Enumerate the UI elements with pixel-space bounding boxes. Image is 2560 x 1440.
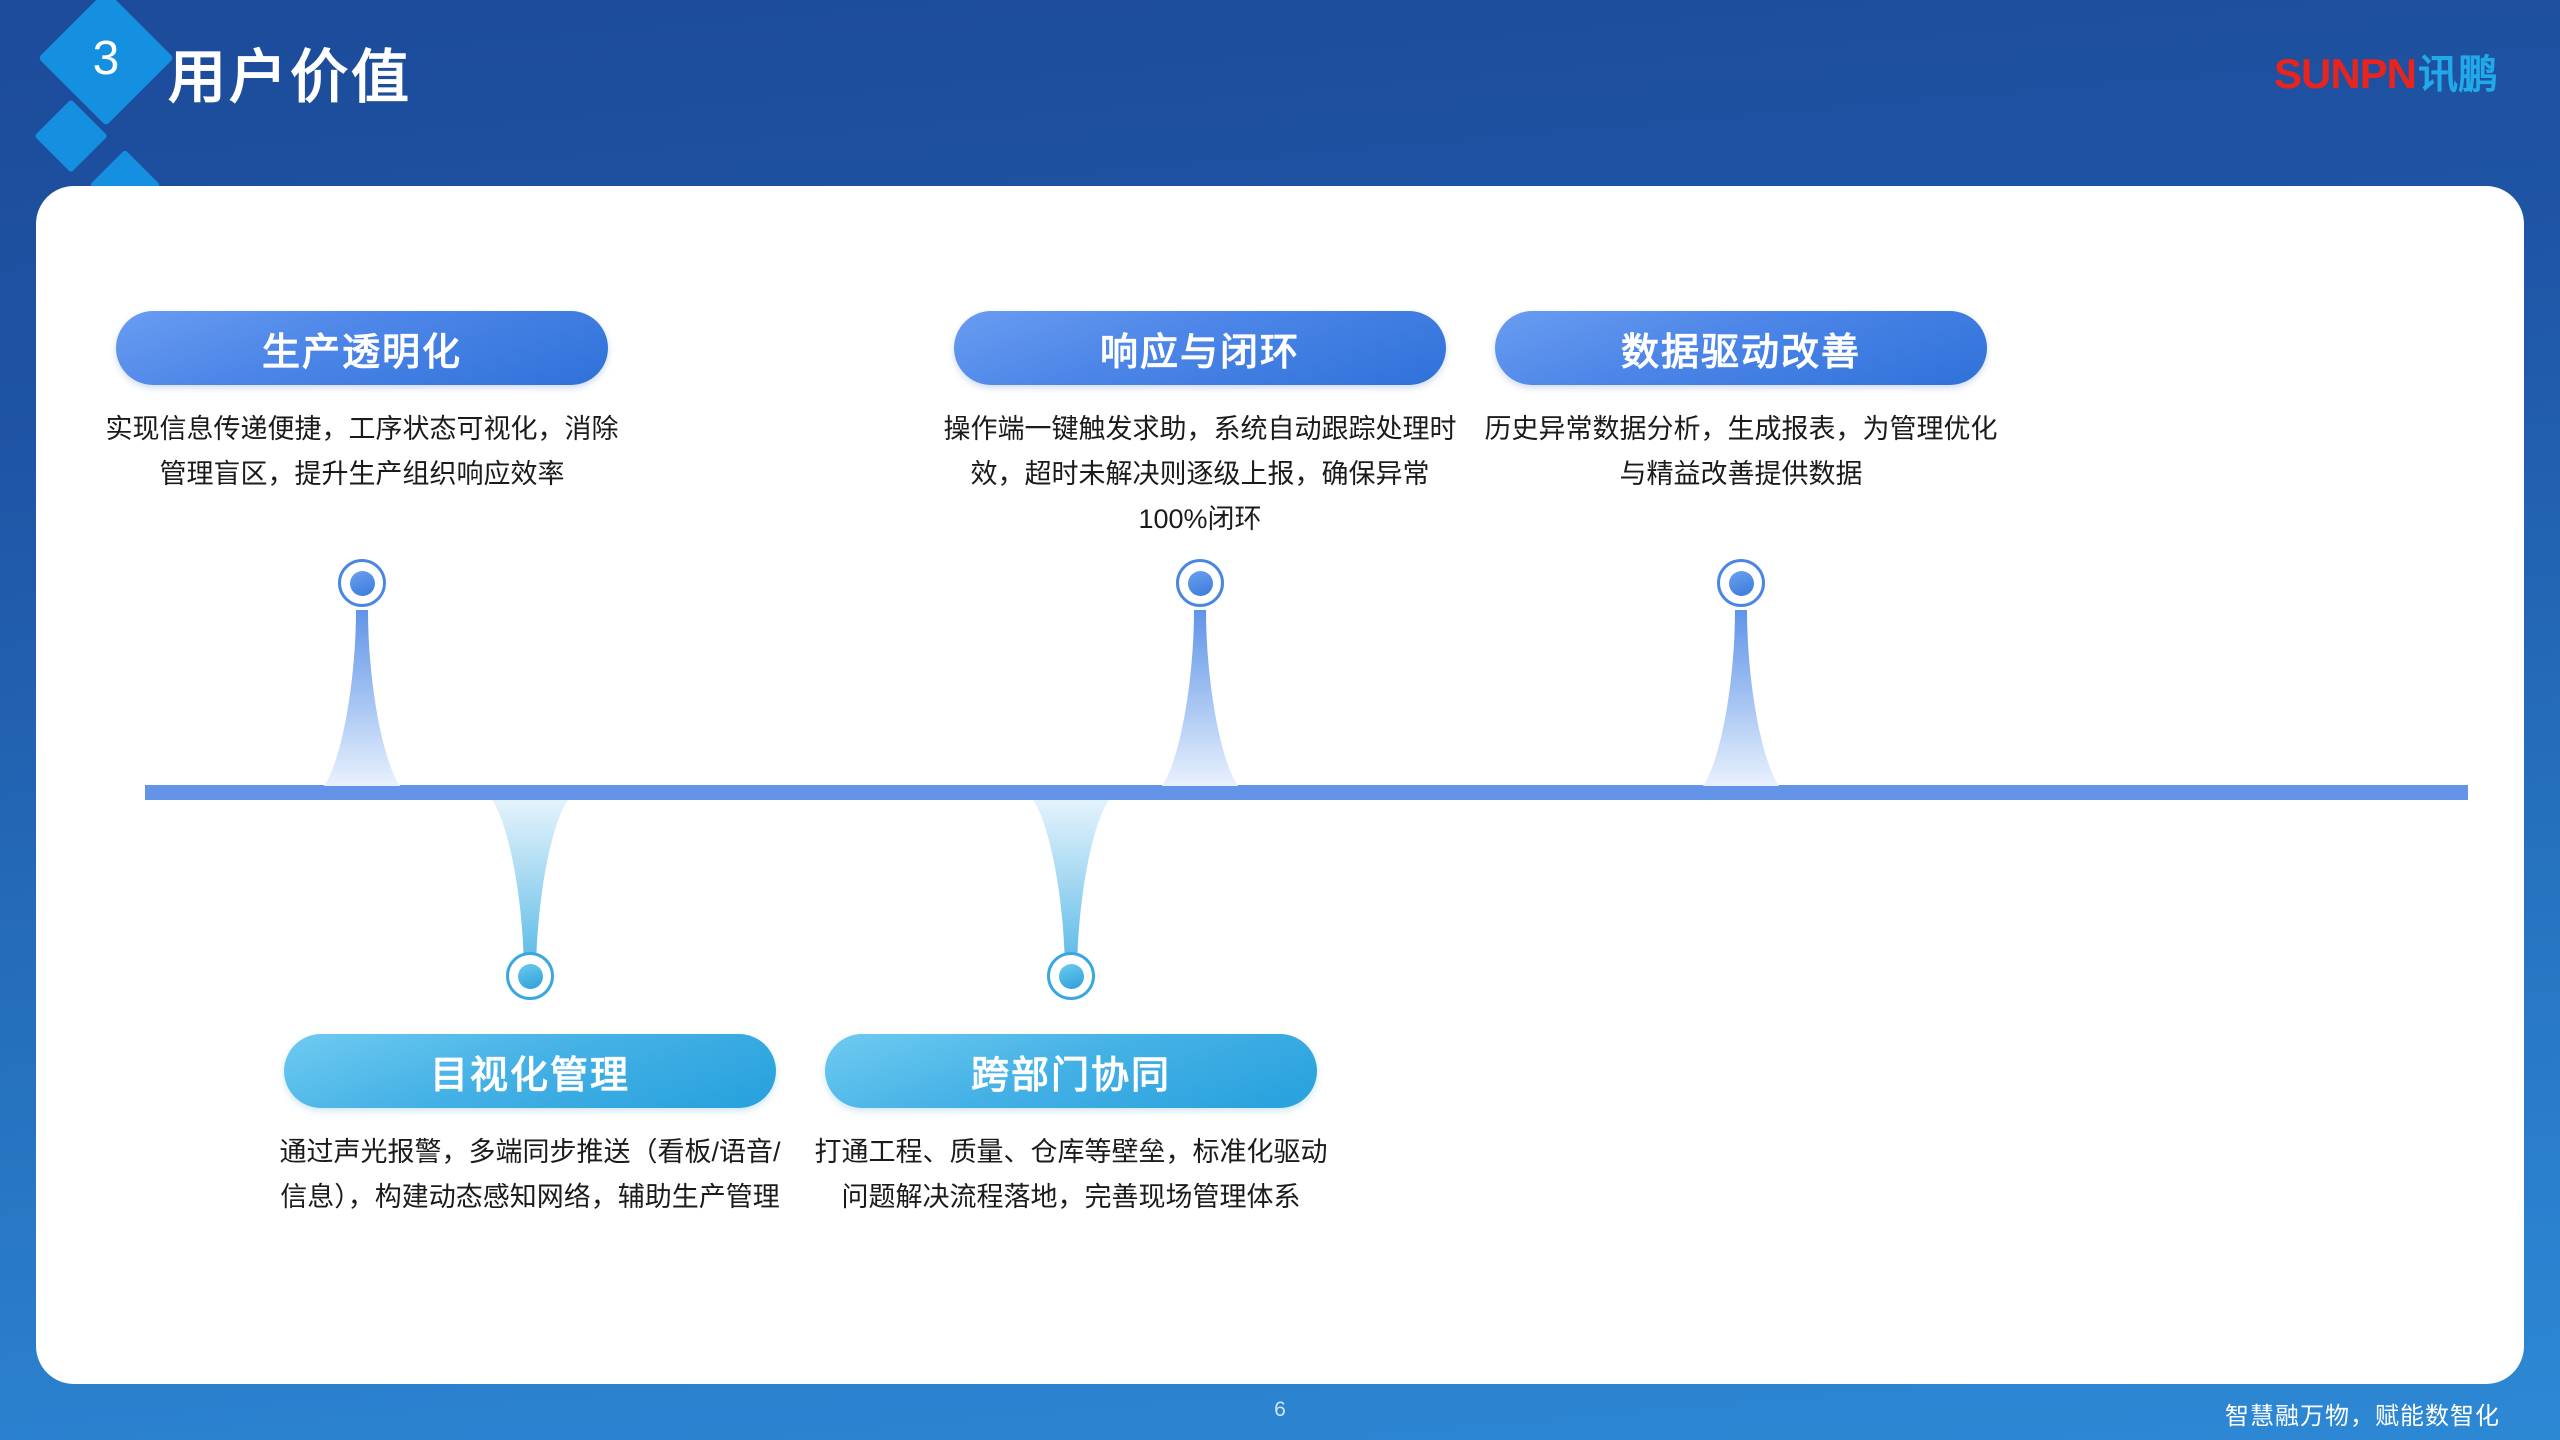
timeline-marker-3-dot: [1729, 571, 1754, 596]
value-item-1-title[interactable]: 生产透明化: [116, 311, 608, 385]
value-item-4-title[interactable]: 目视化管理: [284, 1034, 776, 1108]
timeline-marker-5[interactable]: [1047, 952, 1095, 1000]
value-item-3[interactable]: 数据驱动改善 历史异常数据分析，生成报表，为管理优化与精益改善提供数据: [1441, 311, 2041, 497]
timeline-marker-5-dot: [1059, 964, 1084, 989]
timeline-connector-4: [490, 800, 570, 976]
content-card: 生产透明化 实现信息传递便捷，工序状态可视化，消除管理盲区，提升生产组织响应效率…: [36, 186, 2524, 1384]
value-item-1[interactable]: 生产透明化 实现信息传递便捷，工序状态可视化，消除管理盲区，提升生产组织响应效率: [62, 311, 662, 497]
logo-text-cn: 讯鹏: [2418, 42, 2498, 100]
value-item-2[interactable]: 响应与闭环 操作端一键触发求助，系统自动跟踪处理时效，超时未解决则逐级上报，确保…: [900, 311, 1500, 542]
value-item-4[interactable]: 目视化管理 通过声光报警，多端同步推送（看板/语音/信息），构建动态感知网络，辅…: [230, 1034, 830, 1220]
value-item-5[interactable]: 跨部门协同 打通工程、质量、仓库等壁垒，标准化驱动问题解决流程落地，完善现场管理…: [771, 1034, 1371, 1220]
timeline-connector-2: [1160, 610, 1240, 786]
value-item-4-description: 通过声光报警，多端同步推送（看板/语音/信息），构建动态感知网络，辅助生产管理: [230, 1130, 830, 1220]
timeline-marker-1-dot: [350, 571, 375, 596]
value-item-1-description: 实现信息传递便捷，工序状态可视化，消除管理盲区，提升生产组织响应效率: [62, 407, 662, 497]
timeline-connector-5: [1031, 800, 1111, 976]
value-item-3-description: 历史异常数据分析，生成报表，为管理优化与精益改善提供数据: [1441, 407, 2041, 497]
timeline-connector-1: [322, 610, 402, 786]
value-item-5-description: 打通工程、质量、仓库等壁垒，标准化驱动问题解决流程落地，完善现场管理体系: [771, 1130, 1371, 1220]
slide-header: 3 用户价值 SUNPN 讯鹏: [0, 0, 2560, 185]
footer-tagline: 智慧融万物，赋能数智化: [2225, 1396, 2500, 1431]
timeline-bar: [145, 785, 2468, 800]
timeline-marker-3[interactable]: [1717, 559, 1765, 607]
timeline-connector-3: [1701, 610, 1781, 786]
timeline-marker-4[interactable]: [506, 952, 554, 1000]
slide-root: 3 用户价值 SUNPN 讯鹏 生产透明化 实现信息传递便捷，工序状态可视化，消…: [0, 0, 2560, 1440]
page-title: 用户价值: [168, 30, 412, 114]
page-number: 6: [0, 1398, 2560, 1422]
value-item-5-title[interactable]: 跨部门协同: [825, 1034, 1317, 1108]
logo-text-en: SUNPN: [2274, 50, 2416, 98]
company-logo: SUNPN 讯鹏: [2274, 42, 2498, 100]
timeline-marker-2[interactable]: [1176, 559, 1224, 607]
value-item-2-title[interactable]: 响应与闭环: [954, 311, 1446, 385]
timeline-marker-2-dot: [1188, 571, 1213, 596]
section-number-badge: 3: [58, 10, 154, 106]
timeline-marker-4-dot: [518, 964, 543, 989]
timeline-marker-1[interactable]: [338, 559, 386, 607]
value-item-2-description: 操作端一键触发求助，系统自动跟踪处理时效，超时未解决则逐级上报，确保异常100%…: [900, 407, 1500, 542]
value-item-3-title[interactable]: 数据驱动改善: [1495, 311, 1987, 385]
